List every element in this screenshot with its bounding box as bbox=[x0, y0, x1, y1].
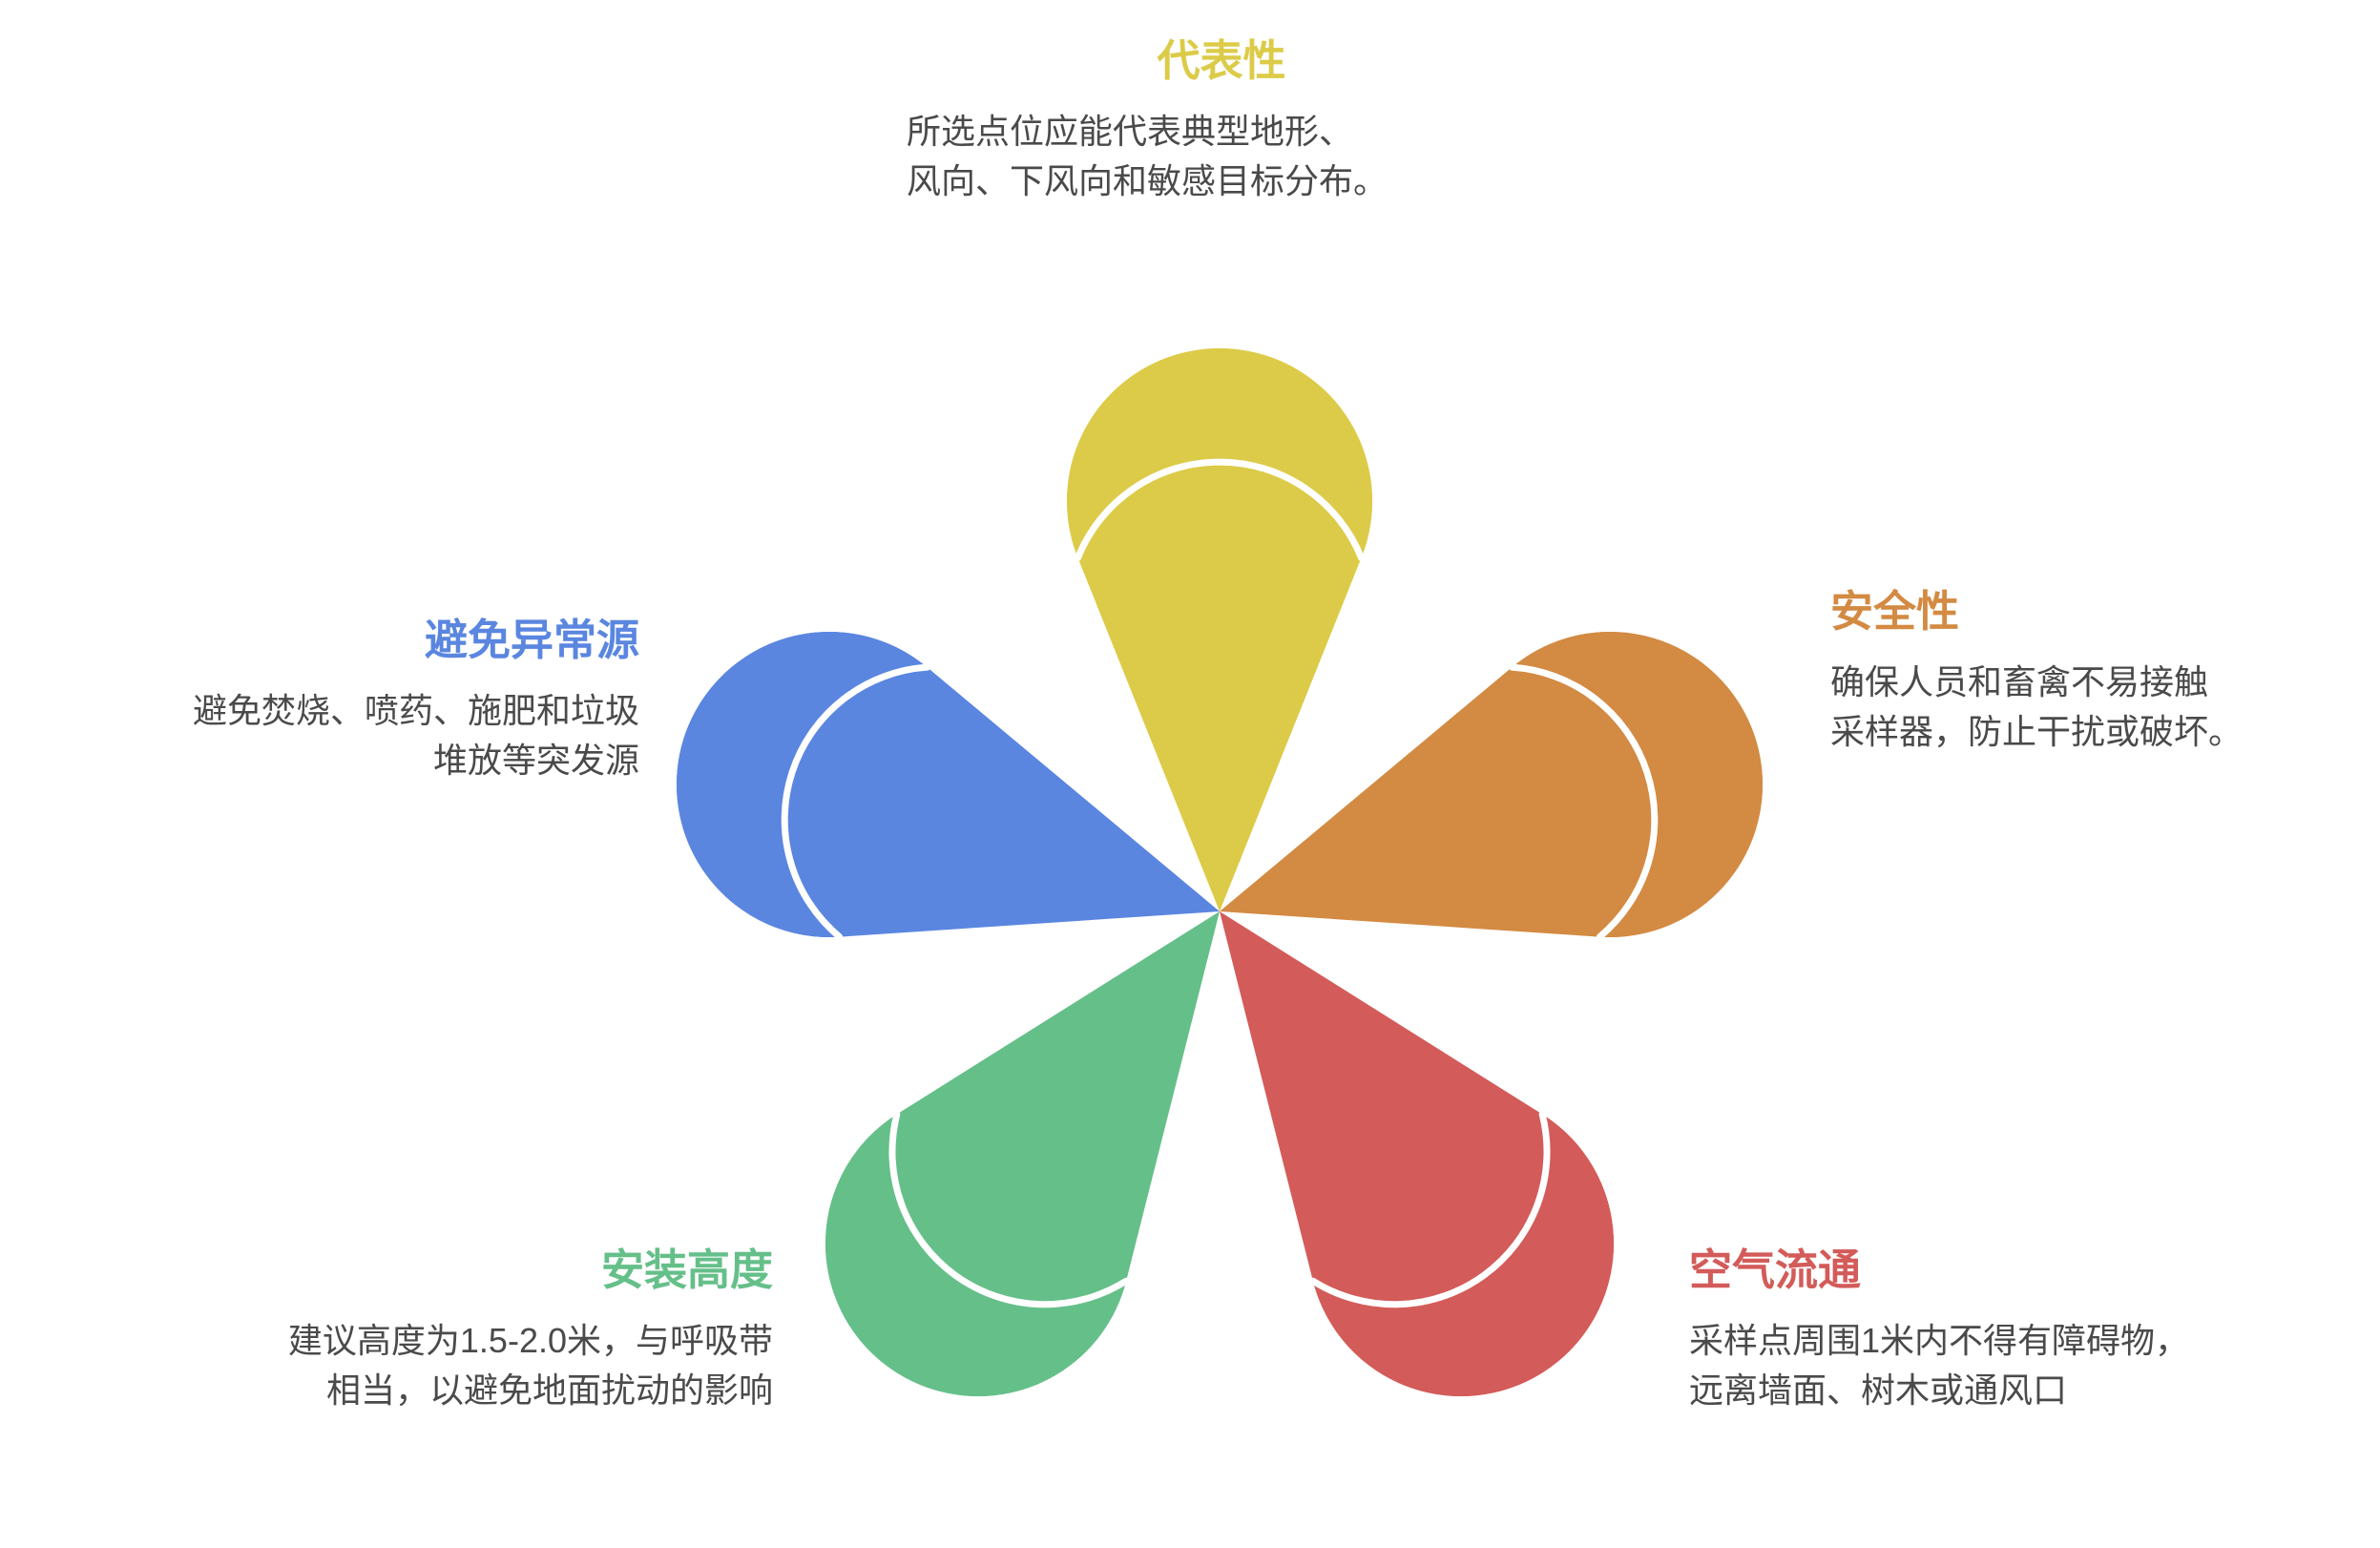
petal-cone-air-circulation bbox=[1220, 911, 1614, 1396]
petal-body-avoid-sources: 避免焚烧、喷药、施肥和垃圾 堆放等突发源 bbox=[29, 686, 639, 786]
petal-cone-representativeness bbox=[1067, 348, 1372, 911]
petal-label-installation-height: 安装高度 建议高度为1.5-2.0米，与呼吸带 相当，以避免地面扰动的影响 bbox=[57, 1245, 773, 1416]
petal-air-circulation bbox=[1220, 911, 1614, 1396]
petal-heading-air-circulation: 空气流通 bbox=[1689, 1245, 2357, 1295]
petal-label-avoid-sources: 避免异常源 避免焚烧、喷药、施肥和垃圾 堆放等突发源 bbox=[29, 616, 639, 786]
petal-separator-safety bbox=[1512, 667, 1654, 936]
petal-body-safety: 确保人员和畜禽不易接触 采样器，防止干扰或破坏。 bbox=[1830, 658, 2365, 758]
petal-disc-avoid-sources bbox=[677, 632, 982, 937]
petal-body-air-circulation: 采样点周围1米内不得有障碍物， 远离墙面、树木或通风口 bbox=[1689, 1316, 2357, 1416]
petal-heading-avoid-sources: 避免异常源 bbox=[29, 616, 639, 665]
petal-label-air-circulation: 空气流通 采样点周围1米内不得有障碍物， 远离墙面、树木或通风口 bbox=[1689, 1245, 2357, 1416]
petal-cone-installation-height bbox=[825, 911, 1220, 1396]
petal-body-representativeness: 所选点位应能代表典型地形、 风向、下风向和敏感目标分布。 bbox=[763, 107, 1680, 207]
petal-cone-avoid-sources bbox=[677, 632, 1220, 937]
petal-installation-height bbox=[825, 911, 1220, 1396]
petal-heading-installation-height: 安装高度 bbox=[57, 1245, 773, 1295]
petal-heading-representativeness: 代表性 bbox=[763, 36, 1680, 86]
petal-disc-air-circulation bbox=[1308, 1091, 1614, 1396]
petal-body-installation-height: 建议高度为1.5-2.0米，与呼吸带 相当，以避免地面扰动的影响 bbox=[57, 1316, 773, 1416]
petal-disc-installation-height bbox=[825, 1091, 1131, 1396]
petal-representativeness bbox=[1067, 348, 1372, 911]
petal-disc-representativeness bbox=[1067, 348, 1372, 654]
petal-separator-installation-height bbox=[892, 1115, 1126, 1305]
petal-separator-air-circulation bbox=[1313, 1115, 1547, 1305]
infographic-canvas: 代表性 所选点位应能代表典型地形、 风向、下风向和敏感目标分布。 安全性 确保人… bbox=[0, 0, 2380, 1548]
petal-heading-safety: 安全性 bbox=[1830, 587, 2365, 637]
petal-safety bbox=[1220, 632, 1763, 937]
petal-avoid-sources bbox=[677, 632, 1220, 937]
petal-separator-avoid-sources bbox=[784, 667, 927, 936]
petal-label-representativeness: 代表性 所选点位应能代表典型地形、 风向、下风向和敏感目标分布。 bbox=[763, 36, 1680, 207]
petal-cone-safety bbox=[1220, 632, 1763, 937]
petal-label-safety: 安全性 确保人员和畜禽不易接触 采样器，防止干扰或破坏。 bbox=[1830, 587, 2365, 758]
petal-separator-representativeness bbox=[1077, 462, 1361, 557]
petal-disc-safety bbox=[1457, 632, 1763, 937]
